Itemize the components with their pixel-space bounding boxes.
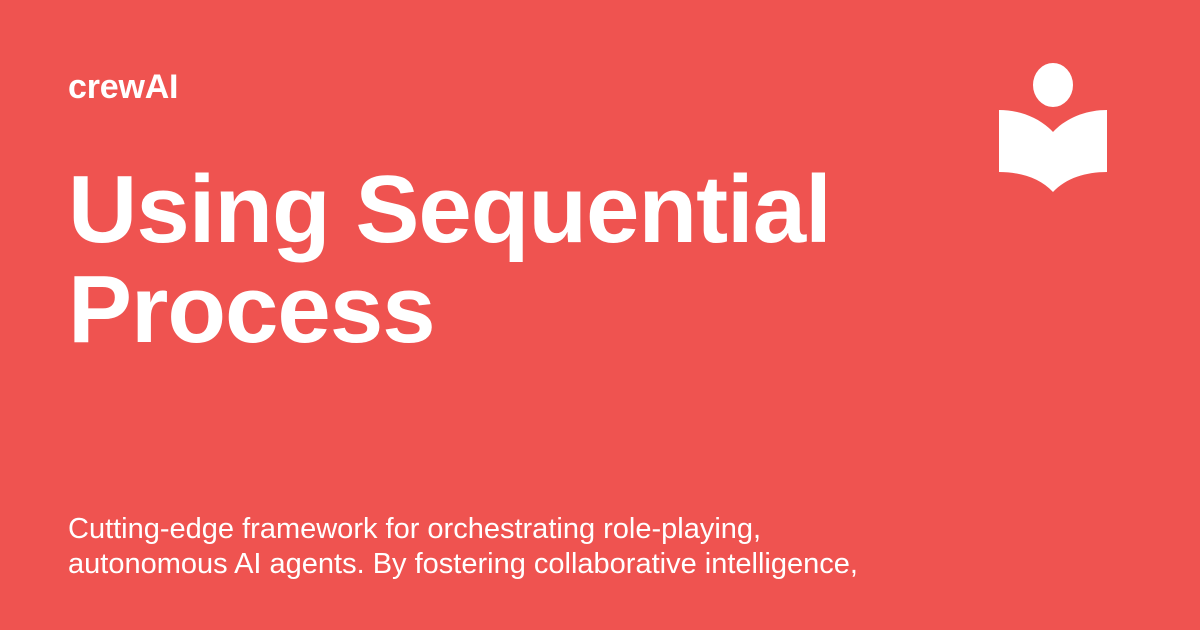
page-description-line-1: Cutting-edge framework for orchestrating… — [68, 512, 888, 547]
page-title: Using Sequential Process — [68, 160, 868, 360]
brand: crewAI — [68, 70, 178, 104]
page-description: Cutting-edge framework for orchestrating… — [68, 512, 888, 582]
page-description-line-2: autonomous AI agents. By fostering colla… — [68, 547, 888, 582]
og-card: crewAI Using Sequential Process Cutting-… — [0, 0, 1200, 630]
open-book-reader-icon — [998, 60, 1114, 196]
brand-name: crewAI — [68, 70, 178, 104]
